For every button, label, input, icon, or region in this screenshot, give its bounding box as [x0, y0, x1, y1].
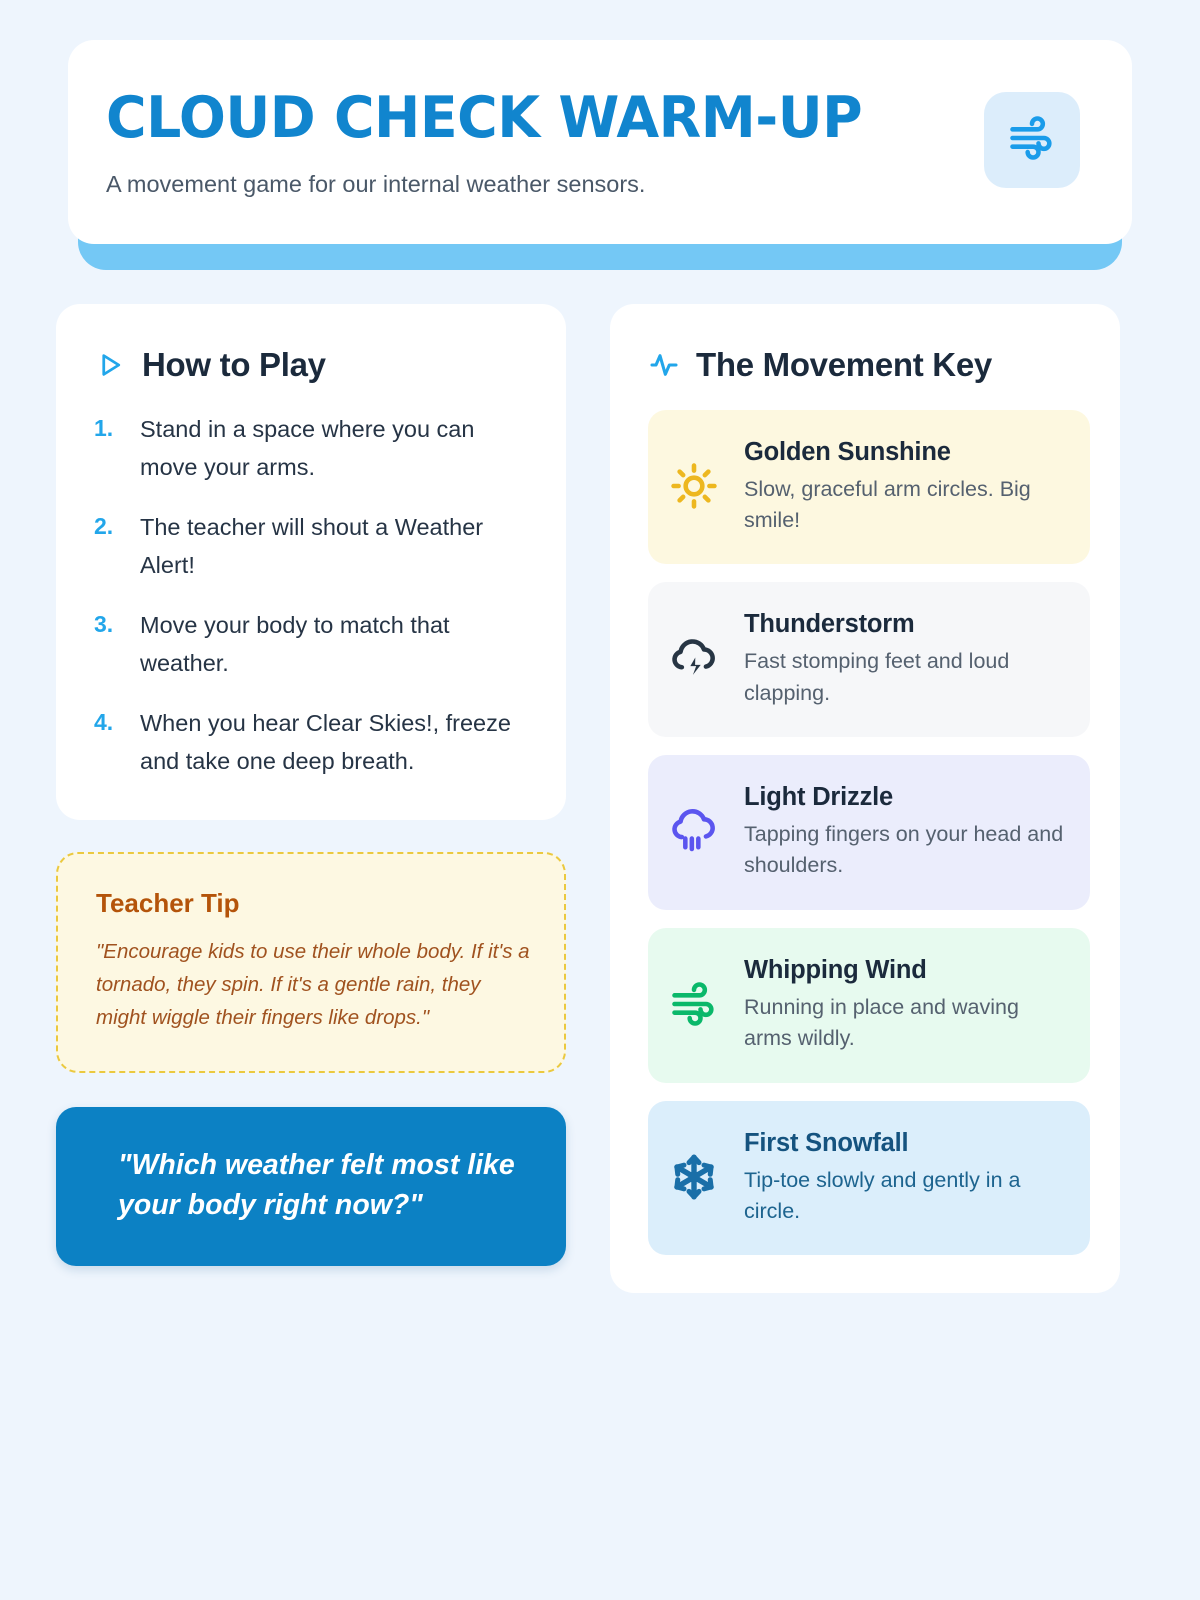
content-columns: How to Play 1. Stand in a space where yo… [56, 304, 1144, 1294]
step-number: 2. [94, 508, 126, 584]
movement-key-item-drizzle: Light Drizzle Tapping fingers on your he… [648, 755, 1090, 910]
page-title: CLOUD CHECK WARM-UP [106, 90, 862, 147]
movement-key-card: The Movement Key Golden [610, 304, 1120, 1294]
movement-key-item-desc: Tip-toe slowly and gently in a circle. [744, 1165, 1068, 1228]
movement-key-item-title: Light Drizzle [744, 783, 1068, 812]
movement-key-text-group: Thunderstorm Fast stomping feet and loud… [744, 608, 1068, 709]
step-number: 1. [94, 410, 126, 486]
movement-key-text-group: Golden Sunshine Slow, graceful arm circl… [744, 436, 1068, 537]
step-item: 3. Move your body to match that weather. [94, 606, 528, 682]
movement-key-item-wind: Whipping Wind Running in place and wavin… [648, 928, 1090, 1083]
teacher-tip-card: Teacher Tip "Encourage kids to use their… [56, 852, 566, 1073]
steps-list: 1. Stand in a space where you can move y… [94, 410, 528, 781]
movement-key-title: The Movement Key [696, 346, 992, 384]
snowflake-icon [666, 1149, 722, 1205]
wind-icon [1006, 112, 1058, 169]
right-column: The Movement Key Golden [610, 304, 1120, 1294]
movement-key-heading: The Movement Key [648, 346, 1090, 384]
movement-key-item-title: Thunderstorm [744, 610, 1068, 639]
header: CLOUD CHECK WARM-UP A movement game for … [68, 40, 1132, 244]
movement-key-item-title: Golden Sunshine [744, 438, 1068, 467]
step-item: 2. The teacher will shout a Weather Aler… [94, 508, 528, 584]
movement-key-item-sunshine: Golden Sunshine Slow, graceful arm circl… [648, 410, 1090, 565]
step-item: 4. When you hear Clear Skies!, freeze an… [94, 704, 528, 780]
movement-key-list: Golden Sunshine Slow, graceful arm circl… [648, 410, 1090, 1256]
cloud-rain-icon [666, 803, 722, 859]
step-text: Move your body to match that weather. [140, 606, 528, 682]
movement-key-item-desc: Running in place and waving arms wildly. [744, 992, 1068, 1055]
movement-key-item-desc: Fast stomping feet and loud clapping. [744, 646, 1068, 709]
sun-icon [666, 458, 722, 514]
wind-icon [666, 976, 722, 1032]
step-text: The teacher will shout a Weather Alert! [140, 508, 528, 584]
how-to-play-card: How to Play 1. Stand in a space where yo… [56, 304, 566, 821]
movement-key-item-desc: Slow, graceful arm circles. Big smile! [744, 474, 1068, 537]
how-to-play-heading: How to Play [94, 346, 528, 384]
poster-root: CLOUD CHECK WARM-UP A movement game for … [0, 0, 1200, 1600]
step-text: Stand in a space where you can move your… [140, 410, 528, 486]
step-number: 3. [94, 606, 126, 682]
cloud-lightning-icon [666, 631, 722, 687]
movement-key-item-snowfall: First Snowfall Tip-toe slowly and gently… [648, 1101, 1090, 1256]
movement-key-item-title: Whipping Wind [744, 956, 1068, 985]
teacher-tip-title: Teacher Tip [96, 888, 530, 919]
teacher-tip-body: "Encourage kids to use their whole body.… [96, 935, 530, 1035]
reflection-question-text: "Which weather felt most like your body … [118, 1145, 526, 1226]
movement-key-item-title: First Snowfall [744, 1129, 1068, 1158]
movement-key-text-group: First Snowfall Tip-toe slowly and gently… [744, 1127, 1068, 1228]
movement-key-text-group: Light Drizzle Tapping fingers on your he… [744, 781, 1068, 882]
header-text-group: CLOUD CHECK WARM-UP A movement game for … [106, 86, 886, 200]
reflection-question-banner: "Which weather felt most like your body … [56, 1107, 566, 1266]
play-triangle-icon [94, 349, 126, 381]
header-badge [984, 92, 1080, 188]
movement-key-text-group: Whipping Wind Running in place and wavin… [744, 954, 1068, 1055]
activity-pulse-icon [648, 349, 680, 381]
movement-key-item-thunderstorm: Thunderstorm Fast stomping feet and loud… [648, 582, 1090, 737]
step-number: 4. [94, 704, 126, 780]
left-column: How to Play 1. Stand in a space where yo… [56, 304, 566, 1294]
step-text: When you hear Clear Skies!, freeze and t… [140, 704, 528, 780]
page-subtitle: A movement game for our internal weather… [106, 169, 886, 200]
movement-key-item-desc: Tapping fingers on your head and shoulde… [744, 819, 1068, 882]
header-card: CLOUD CHECK WARM-UP A movement game for … [68, 40, 1132, 244]
how-to-play-title: How to Play [142, 346, 326, 384]
step-item: 1. Stand in a space where you can move y… [94, 410, 528, 486]
